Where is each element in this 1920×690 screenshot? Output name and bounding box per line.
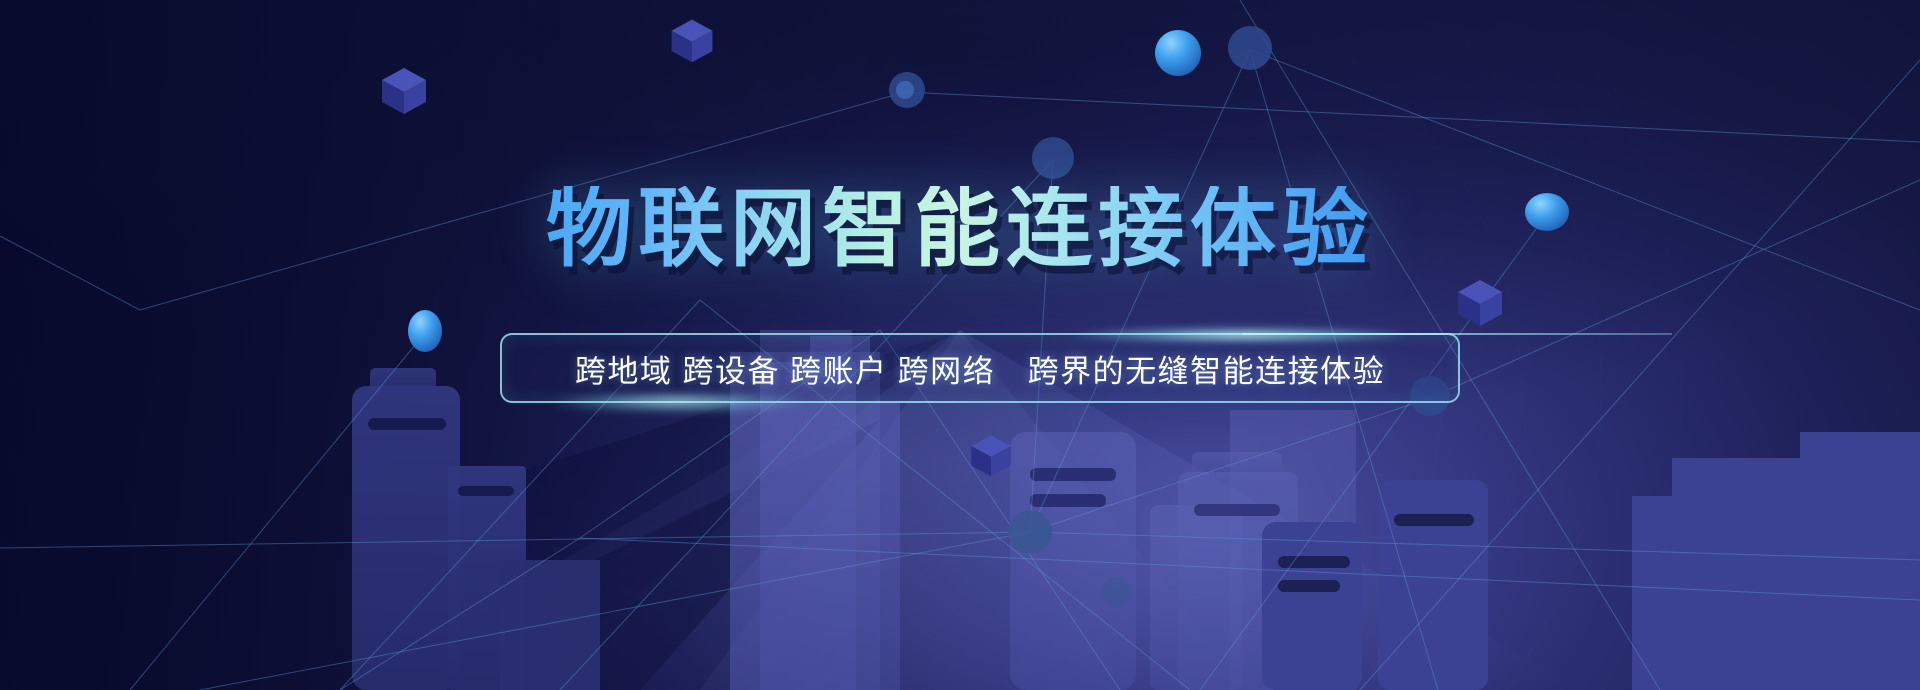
subtitle-text: 跨地域 跨设备 跨账户 跨网络 跨界的无缝智能连接体验 <box>575 346 1385 391</box>
subtitle-pill: 跨地域 跨设备 跨账户 跨网络 跨界的无缝智能连接体验 <box>500 333 1460 403</box>
cube-top-left-icon <box>376 62 432 118</box>
pill-glow-bottom <box>552 394 802 410</box>
pill-glow-top <box>1077 328 1407 342</box>
cube-right-upper-icon <box>1452 274 1508 330</box>
iot-hero-banner: 物联网智能连接体验 跨地域 跨设备 跨账户 跨网络 跨界的无缝智能连接体验 <box>0 0 1920 690</box>
cube-center-low-icon <box>966 430 1016 480</box>
cube-top-center-icon <box>666 14 718 66</box>
